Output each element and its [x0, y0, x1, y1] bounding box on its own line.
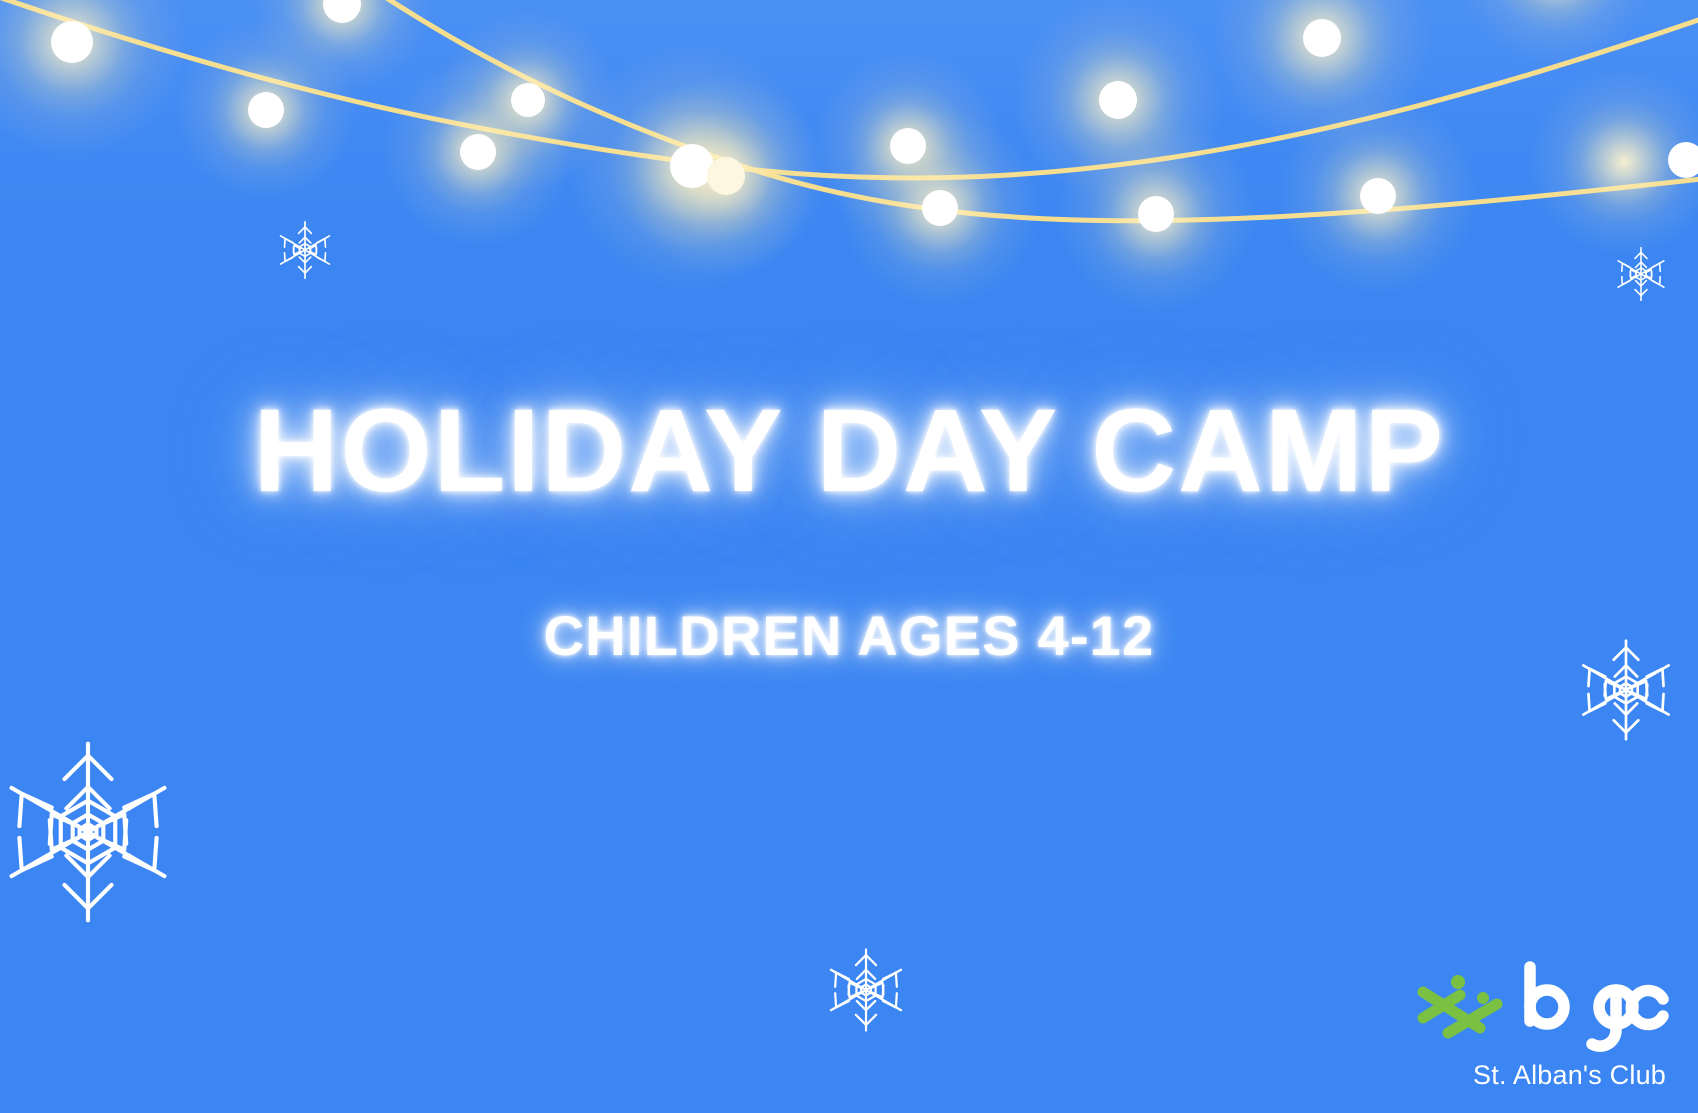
- bgc-logo-block: St. Alban's Club: [1370, 964, 1670, 1091]
- light-bulb: [511, 83, 545, 117]
- snowflake-icon: [1611, 244, 1671, 304]
- snowflake-icon: [273, 218, 337, 282]
- light-bulb: [460, 134, 496, 170]
- holiday-day-camp-poster: HOLIDAY DAY CAMP CHILDREN AGES 4-12: [0, 0, 1698, 1113]
- subheadline-container: CHILDREN AGES 4-12: [0, 608, 1698, 664]
- string-lights-decoration: [0, 0, 1698, 300]
- snowflake-icon: [820, 944, 912, 1036]
- light-bulb: [707, 157, 745, 195]
- light-bulb: [1138, 196, 1174, 232]
- page-subtitle: CHILDREN AGES 4-12: [544, 608, 1155, 664]
- light-bulb: [1303, 19, 1341, 57]
- club-name-label: St. Alban's Club: [1370, 1060, 1670, 1091]
- headline-container: HOLIDAY DAY CAMP: [0, 392, 1698, 510]
- light-bulb: [922, 190, 958, 226]
- bgc-wordmark: [1522, 959, 1670, 1058]
- light-bulb: [1668, 142, 1698, 178]
- light-bulb: [248, 92, 284, 128]
- light-bulb: [1360, 178, 1396, 214]
- logo-row: [1370, 964, 1670, 1052]
- light-bulb: [890, 128, 926, 164]
- snowflake-icon: [0, 734, 186, 930]
- light-string-wires: [0, 0, 1698, 300]
- light-bulb: [51, 21, 93, 63]
- bgc-people-mark-icon: [1414, 970, 1506, 1047]
- page-title: HOLIDAY DAY CAMP: [253, 392, 1444, 510]
- light-bulb: [1099, 81, 1137, 119]
